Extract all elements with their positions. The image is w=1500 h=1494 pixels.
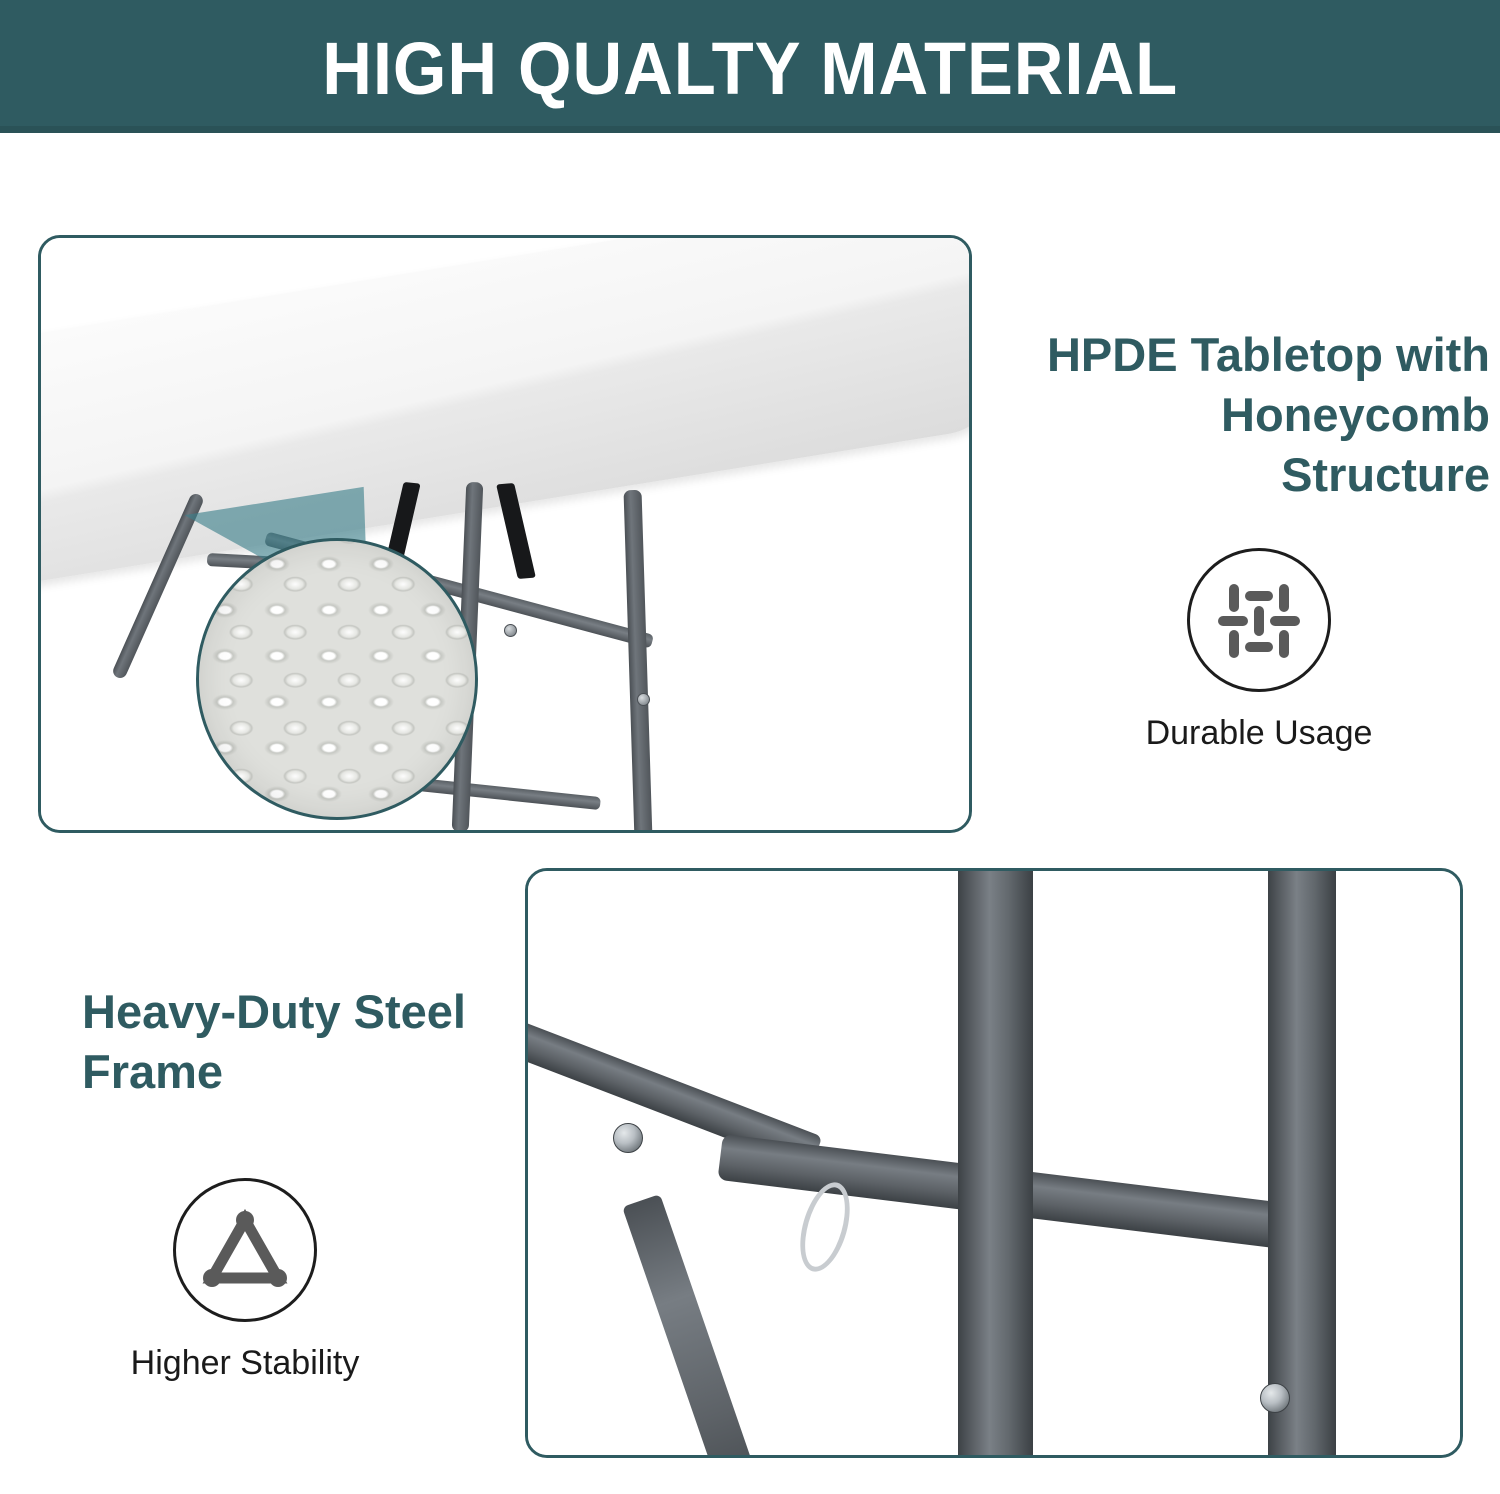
folding-table-photo xyxy=(41,238,969,830)
frame-bolt xyxy=(504,624,517,637)
table-leg xyxy=(624,490,653,833)
grid-mesh-icon xyxy=(1187,548,1331,692)
steel-tube-leg xyxy=(1268,868,1336,1458)
banner-underline xyxy=(0,126,1500,133)
honeycomb-texture xyxy=(199,541,475,817)
frame-bolt xyxy=(1260,1383,1290,1413)
steel-frame-headline: Heavy-Duty Steel Frame xyxy=(82,982,482,1102)
steel-tube-leg xyxy=(958,868,1033,1458)
tabletop-photo-panel xyxy=(38,235,972,833)
triangle-stability-icon xyxy=(173,1178,317,1322)
frame-bolt xyxy=(613,1123,643,1153)
header-banner: HIGH QUALTY MATERIAL xyxy=(0,0,1500,133)
higher-stability-label: Higher Stability xyxy=(131,1344,360,1383)
steel-frame-photo-panel xyxy=(525,868,1463,1458)
frame-bolt xyxy=(637,693,650,706)
banner-title: HIGH QUALTY MATERIAL xyxy=(322,28,1178,106)
frame-lower-diagonal xyxy=(622,1194,774,1458)
durable-usage-feature: Durable Usage xyxy=(1114,548,1404,753)
honeycomb-magnifier xyxy=(196,538,478,820)
durable-usage-label: Durable Usage xyxy=(1146,714,1373,753)
higher-stability-feature: Higher Stability xyxy=(100,1178,390,1383)
steel-frame-photo xyxy=(528,871,1460,1455)
tabletop-headline: HPDE Tabletop with Honeycomb Structure xyxy=(1030,325,1490,505)
